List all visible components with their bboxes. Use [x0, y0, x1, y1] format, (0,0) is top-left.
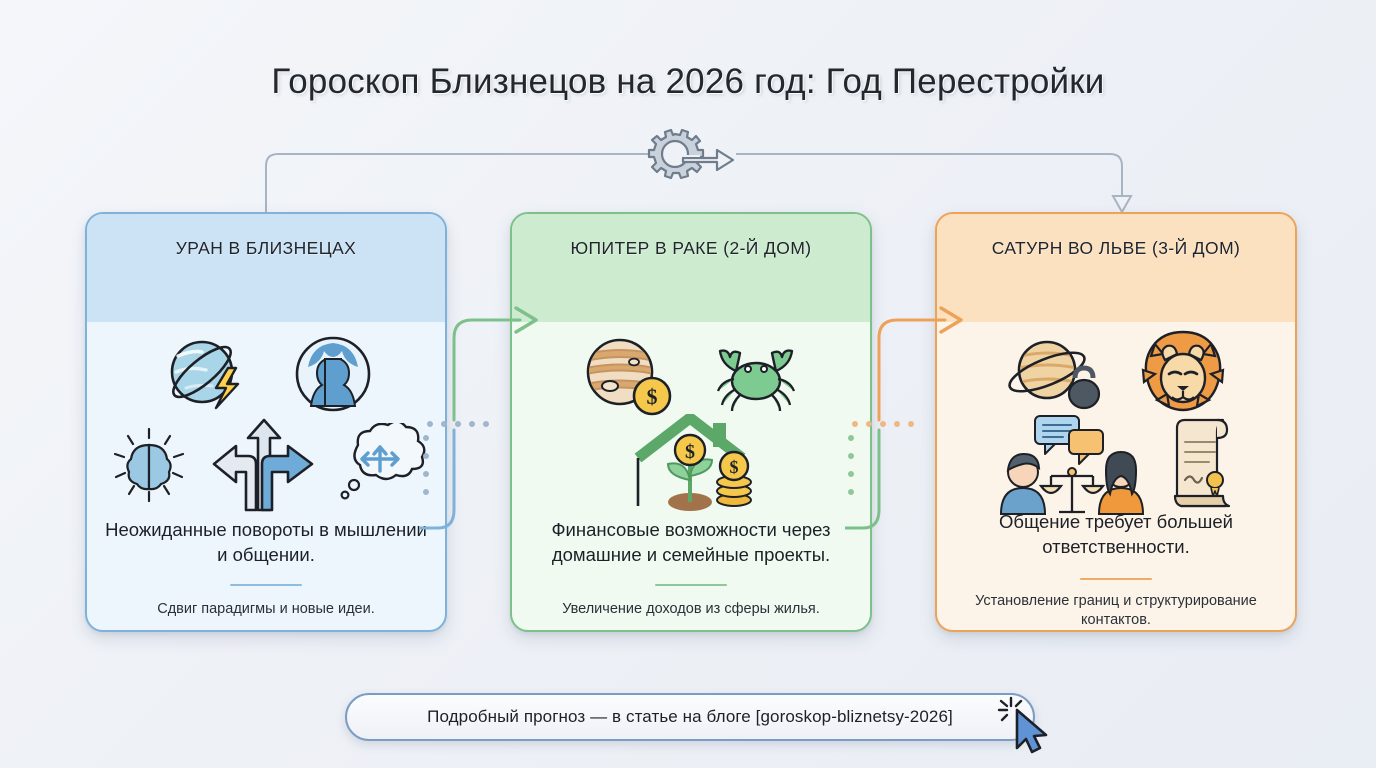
card-subline-saturn: Установление границ и структурирование к…: [951, 592, 1281, 630]
two-people-speech-scales-icon: [993, 414, 1153, 518]
three-way-arrows-icon: [206, 418, 320, 514]
connector-uranus-to-jupiter: [420, 280, 540, 570]
connector-jupiter-to-saturn: [845, 280, 965, 570]
footer-cta-bar[interactable]: Подробный прогноз — в статье на блоге [g…: [345, 693, 1035, 741]
card-headline-saturn: Общение требует большей ответственности.: [955, 510, 1277, 559]
card-headline-jupiter: Финансовые возможности через домашние и …: [530, 518, 852, 567]
glowing-brain-icon: [106, 423, 192, 509]
card-subline-uranus: Сдвиг парадигмы и новые идеи.: [101, 600, 431, 619]
card-header-jupiter: ЮПИТЕР В РАКЕ (2-Й ДОМ): [512, 214, 870, 322]
card-title-uranus: УРАН В БЛИЗНЕЦАХ: [176, 238, 356, 259]
jupiter-planet-icon: $: [578, 328, 682, 420]
infographic-canvas: Гороскоп Близнецов на 2026 год: Год Пере…: [0, 0, 1376, 768]
crab-cancer-icon: [708, 331, 804, 417]
page-title: Гороскоп Близнецов на 2026 год: Год Пере…: [0, 62, 1376, 102]
card-body-uranus: Неожиданные повороты в мышлении и общени…: [87, 322, 445, 632]
card-headline-uranus: Неожиданные повороты в мышлении и общени…: [105, 518, 427, 567]
card-divider-saturn: [1080, 578, 1152, 580]
icon-row-concepts-uranus: [87, 418, 445, 514]
card-body-jupiter: $: [512, 322, 870, 632]
card-header-saturn: САТУРН ВО ЛЬВЕ (3-Й ДОМ): [937, 214, 1295, 322]
lion-leo-icon: [1135, 328, 1231, 420]
card-divider-uranus: [230, 584, 302, 586]
saturn-planet-icon: [1001, 328, 1109, 420]
svg-text:$: $: [685, 441, 695, 463]
card-header-uranus: УРАН В БЛИЗНЕЦАХ: [87, 214, 445, 322]
card-title-jupiter: ЮПИТЕР В РАКЕ (2-Й ДОМ): [570, 238, 811, 259]
icon-row-concepts-jupiter: $ $: [512, 418, 870, 514]
kettlebell-icon: [1069, 368, 1099, 408]
card-uranus[interactable]: УРАН В БЛИЗНЕЦАХ: [85, 212, 447, 632]
uranus-planet-icon: [154, 328, 262, 420]
gemini-twins-icon: [288, 329, 378, 419]
coin-stack-icon: $: [717, 452, 751, 506]
contract-scroll-icon: [1167, 414, 1239, 518]
icon-row-planets-uranus: [87, 320, 445, 428]
icon-row-planets-jupiter: $: [512, 320, 870, 428]
card-title-saturn: САТУРН ВО ЛЬВЕ (3-Й ДОМ): [992, 238, 1241, 259]
card-jupiter[interactable]: ЮПИТЕР В РАКЕ (2-Й ДОМ) $: [510, 212, 872, 632]
card-subline-jupiter: Увеличение доходов из сферы жилья.: [526, 600, 856, 619]
svg-text:$: $: [730, 457, 739, 477]
gear-arrow-icon: [645, 126, 737, 190]
house-money-plant-icon: $ $: [616, 414, 766, 518]
card-saturn[interactable]: САТУРН ВО ЛЬВЕ (3-Й ДОМ): [935, 212, 1297, 632]
icon-row-planets-saturn: [937, 320, 1295, 428]
footer-text: Подробный прогноз — в статье на блоге [g…: [427, 707, 953, 727]
icon-row-concepts-saturn: [937, 418, 1295, 514]
card-body-saturn: Общение требует большей ответственности.…: [937, 322, 1295, 632]
mouse-cursor-click-icon: [995, 694, 1057, 756]
card-divider-jupiter: [655, 584, 727, 586]
svg-text:$: $: [647, 384, 658, 409]
thought-cloud-arrows-icon: [334, 423, 426, 509]
